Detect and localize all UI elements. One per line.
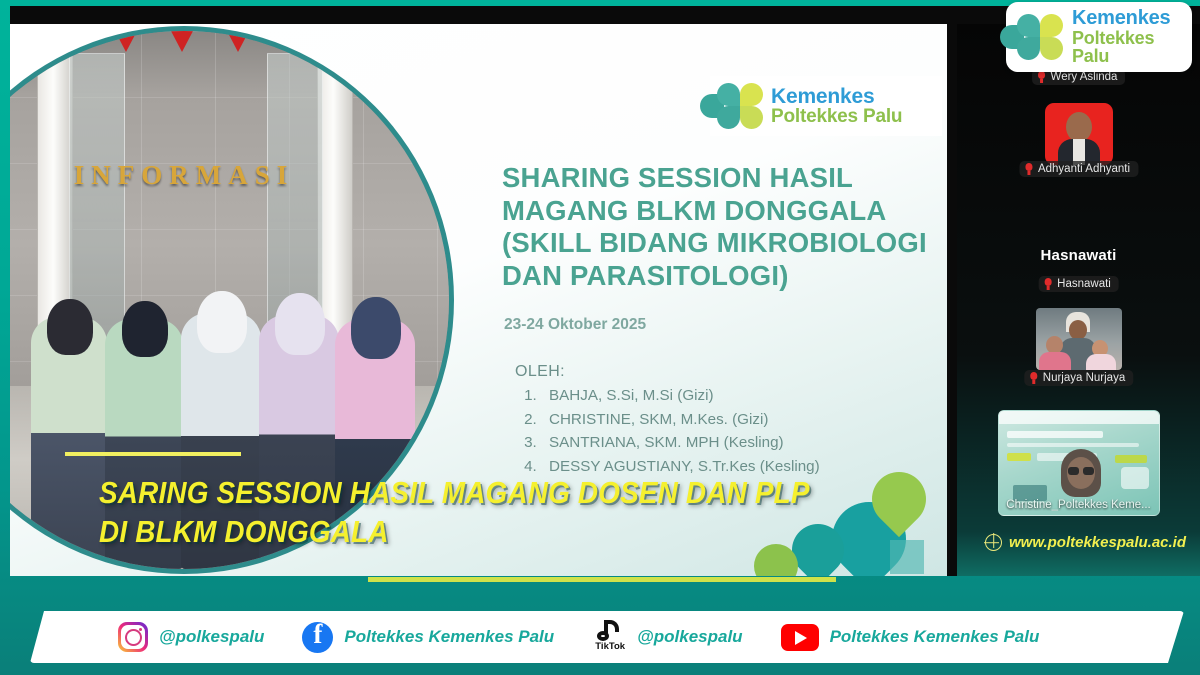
slide-kemenkes-logo: Kemenkes Poltekkes Palu <box>710 76 942 136</box>
participant-name: Nurjaya Nurjaya <box>1043 372 1125 384</box>
participant-name: Hasnawati <box>1057 278 1111 290</box>
accent-rule-bottom <box>368 577 836 582</box>
presenter-list-label: OLEH: <box>515 364 945 380</box>
facebook-icon <box>302 622 333 653</box>
social-item-tiktok[interactable]: TikTok @polkespalu <box>592 620 742 654</box>
instagram-icon <box>118 622 148 652</box>
mic-muted-icon <box>1043 278 1052 290</box>
presenter-item: BAHJA, S.Si, M.Si (Gizi) <box>541 388 945 403</box>
tiktok-icon-caption: TikTok <box>589 641 631 652</box>
participant-video-thumbnail[interactable] <box>1045 103 1113 165</box>
mic-muted-icon <box>1024 163 1033 175</box>
poster-headline-line-1: SARING SESSION HASIL MAGANG DOSEN DAN PL… <box>99 473 810 512</box>
slide-logo-line1: Kemenkes <box>771 86 902 107</box>
youtube-handle: Poltekkes Kemenkes Palu <box>830 627 1040 647</box>
poster-headline-line-2: DI BLKM DONGGALA <box>99 512 810 551</box>
mic-muted-icon <box>1037 71 1046 83</box>
social-media-bar: @polkespalu Poltekkes Kemenkes Palu TikT… <box>30 611 1184 663</box>
youtube-icon <box>781 624 819 651</box>
slide-title-line-3: (SKILL BIDANG MIKROBIOLOGI <box>502 227 947 260</box>
presenter-item: CHRISTINE, SKM, M.Kes. (Gizi) <box>541 412 945 427</box>
participant-tile-hasnawati[interactable]: Hasnawati <box>957 272 1200 298</box>
kemenkes-pinwheel-icon <box>1016 14 1064 60</box>
participant-tile-christine[interactable]: Christine_Poltekkes Keme... <box>957 410 1200 520</box>
social-item-facebook[interactable]: Poltekkes Kemenkes Palu <box>302 622 554 653</box>
badge-logo-line1: Kemenkes <box>1072 8 1192 28</box>
slide-title-line-4: DAN PARASITOLOGI) <box>502 260 947 293</box>
accent-rule-top <box>65 452 241 456</box>
participant-tile-adhyanti[interactable]: Adhyanti Adhyanti <box>957 103 1200 189</box>
slide-title-line-1: SHARING SESSION HASIL <box>502 162 947 195</box>
instagram-handle: @polkespalu <box>159 627 264 647</box>
facebook-handle: Poltekkes Kemenkes Palu <box>344 627 554 647</box>
participant-video-thumbnail[interactable] <box>1036 308 1122 370</box>
mic-muted-icon <box>1029 372 1038 384</box>
presenter-item: SANTRIANA, SKM. MPH (Kesling) <box>541 435 945 450</box>
slide-logo-line2: Poltekkes Palu <box>771 107 902 126</box>
poster-canvas: INFORMASI <box>0 0 1200 675</box>
slide-presenter-list: OLEH: BAHJA, S.Si, M.Si (Gizi) CHRISTINE… <box>515 364 945 483</box>
website-url[interactable]: www.poltekkespalu.ac.id <box>985 534 1186 551</box>
website-url-text: www.poltekkespalu.ac.id <box>1009 534 1186 551</box>
poster-headline: SARING SESSION HASIL MAGANG DOSEN DAN PL… <box>99 473 810 551</box>
tiktok-icon: TikTok <box>592 620 626 654</box>
participants-panel[interactable]: Wery Aslinda Wery Aslinda Adhyanti Adhya… <box>957 24 1200 576</box>
decorative-square <box>890 540 924 574</box>
participant-name: Christine_Poltekkes Keme... <box>999 499 1159 511</box>
participant-name: Adhyanti Adhyanti <box>1038 163 1130 175</box>
social-item-instagram[interactable]: @polkespalu <box>118 622 264 652</box>
social-item-youtube[interactable]: Poltekkes Kemenkes Palu <box>781 624 1040 651</box>
tiktok-handle: @polkespalu <box>637 627 742 647</box>
kemenkes-pinwheel-icon <box>716 83 764 129</box>
slide-date: 23-24 Oktober 2025 <box>504 316 646 334</box>
active-speaker-name: Hasnawati <box>957 247 1200 264</box>
participant-name: Wery Aslinda <box>1051 71 1118 83</box>
participant-tile-nurjaya[interactable]: Nurjaya Nurjaya <box>957 308 1200 394</box>
slide-title: SHARING SESSION HASIL MAGANG BLKM DONGGA… <box>502 162 947 293</box>
institution-logo-badge: Kemenkes Poltekkes Palu <box>1006 2 1192 72</box>
participant-video-thumbnail[interactable]: Christine_Poltekkes Keme... <box>998 410 1160 516</box>
slide-title-line-2: MAGANG BLKM DONGGALA <box>502 195 947 228</box>
informasi-sign: INFORMASI <box>10 160 449 191</box>
badge-logo-line2: Poltekkes Palu <box>1072 29 1192 66</box>
globe-icon <box>985 534 1002 551</box>
